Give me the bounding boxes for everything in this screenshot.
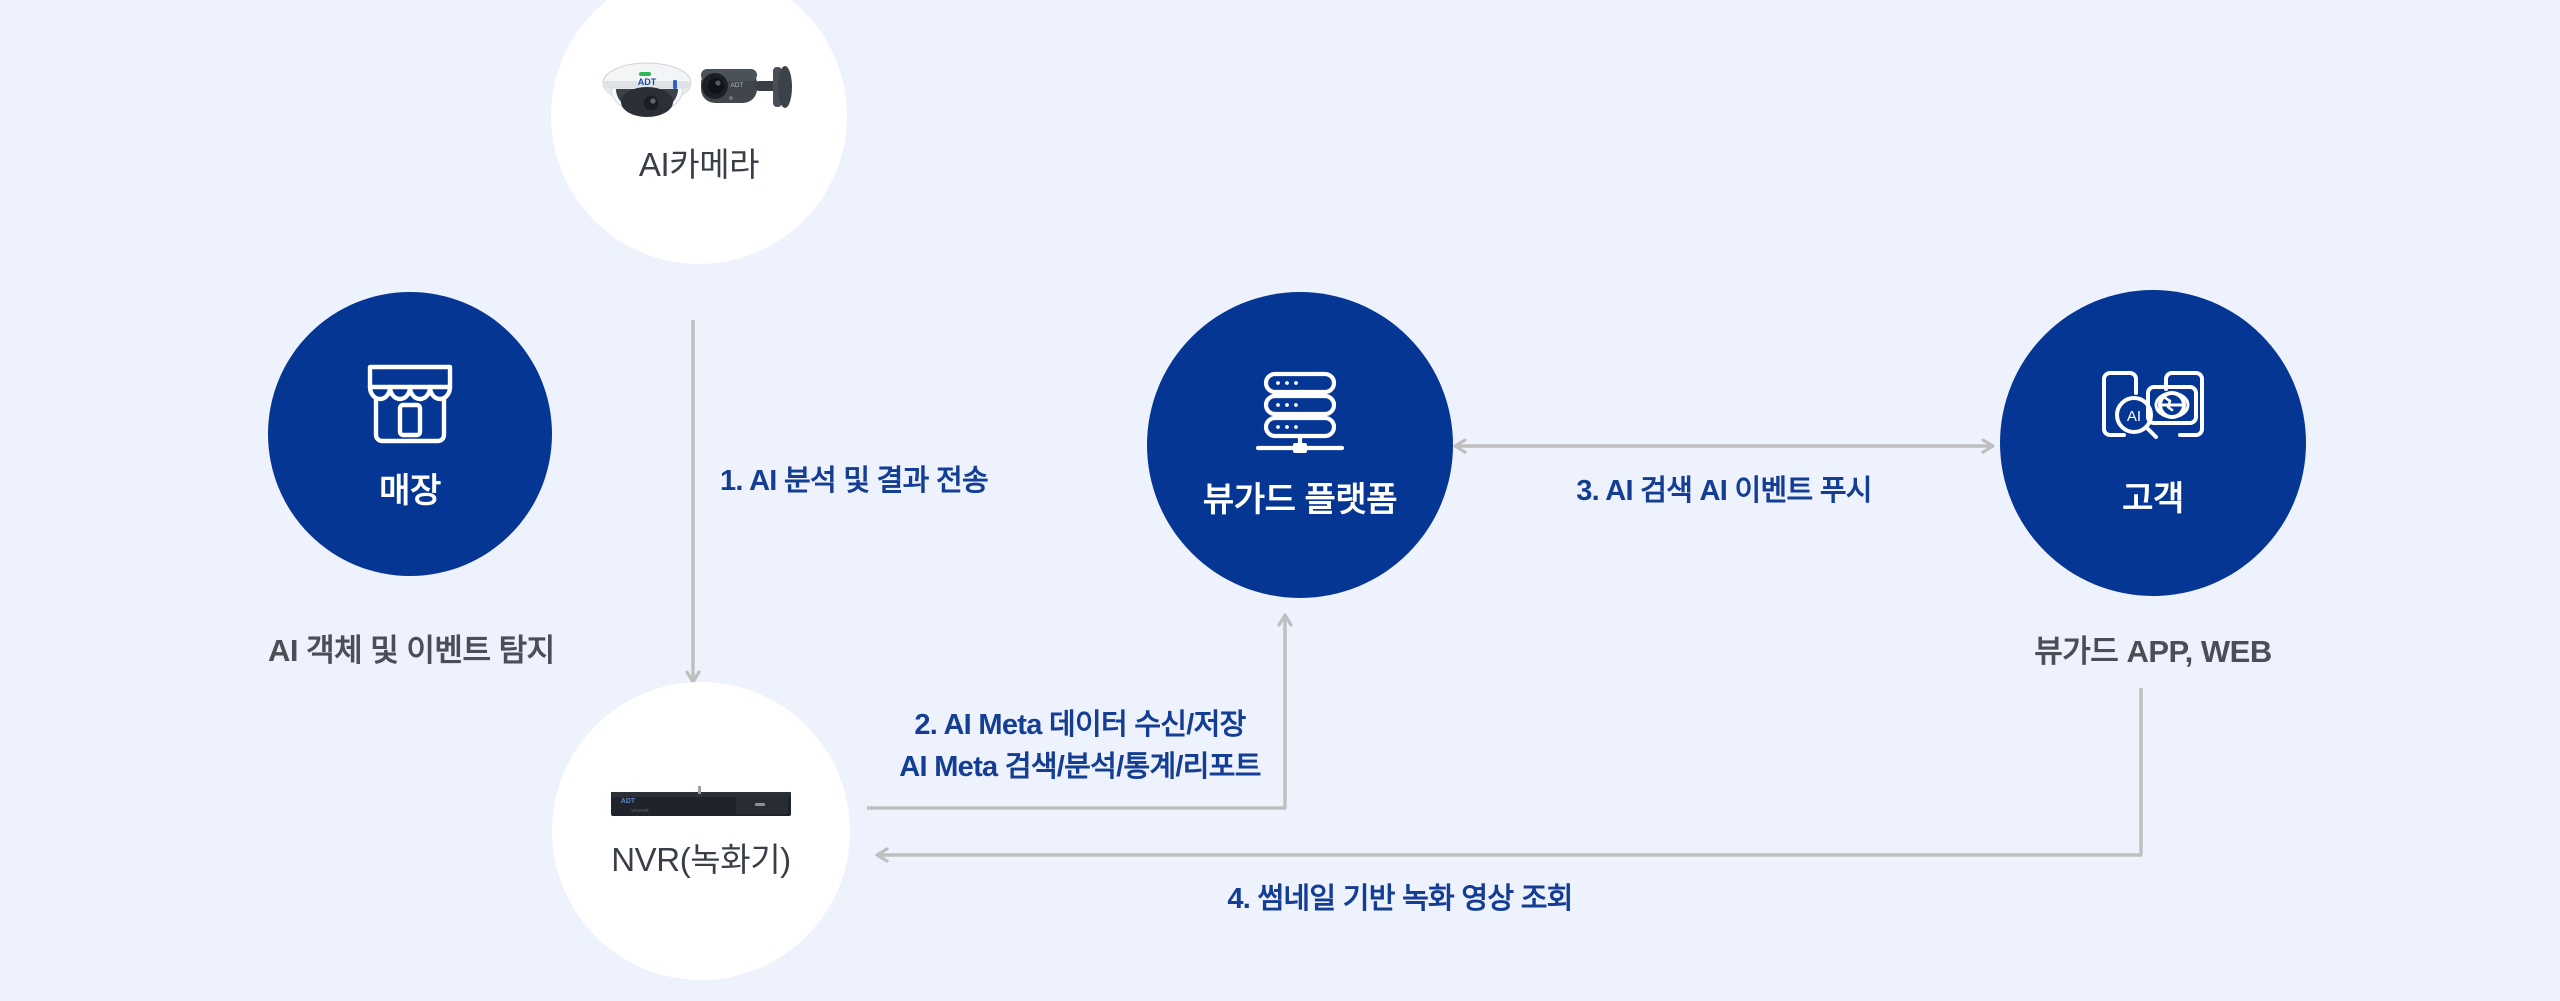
svg-text:AI: AI xyxy=(2127,408,2141,425)
diagram-canvas: ADT ADT AI카메라 xyxy=(0,0,2560,1001)
node-store-label: 매장 xyxy=(379,473,441,510)
node-customer[interactable]: AI 고객 xyxy=(2000,290,2306,596)
svg-text:VG-NVR: VG-NVR xyxy=(631,808,649,813)
node-nvr[interactable]: ADT VG-NVR NVR(녹화기) xyxy=(552,682,850,980)
node-ai-camera[interactable]: ADT ADT AI카메라 xyxy=(551,0,847,264)
nvr-photo: ADT VG-NVR xyxy=(610,784,792,820)
customer-caption: 뷰가드 APP, WEB xyxy=(2000,626,2306,671)
edge-3-label-line-1: 3. AI 검색 AI 이벤트 푸시 xyxy=(1514,470,1934,512)
node-ai-camera-label: AI카메라 xyxy=(639,147,759,183)
store-caption: AI 객체 및 이벤트 탐지 xyxy=(268,625,552,670)
edge-1-label-line-1: 1. AI 분석 및 결과 전송 xyxy=(720,460,1040,502)
camera-photo: ADT ADT xyxy=(599,49,799,127)
node-platform-label: 뷰가드 플랫폼 xyxy=(1203,482,1397,519)
svg-text:ADT: ADT xyxy=(638,77,657,87)
node-nvr-label: NVR(녹화기) xyxy=(611,842,791,878)
edge-2-label-line-1: 2. AI Meta 데이터 수신/저장 xyxy=(880,704,1280,746)
node-store[interactable]: 매장 xyxy=(268,292,552,576)
svg-text:ADT: ADT xyxy=(621,798,636,805)
edge-1-label: 1. AI 분석 및 결과 전송 xyxy=(720,460,1040,502)
edge-3-label: 3. AI 검색 AI 이벤트 푸시 xyxy=(1514,470,1934,512)
server-rack-icon xyxy=(1250,370,1350,460)
edge-2-label-line-2: AI Meta 검색/분석/통계/리포트 xyxy=(880,746,1280,788)
node-platform[interactable]: 뷰가드 플랫폼 xyxy=(1147,292,1453,598)
edge-4-label: 4. 썸네일 기반 녹화 영상 조회 xyxy=(1120,878,1680,920)
edge-4-label-line-1: 4. 썸네일 기반 녹화 영상 조회 xyxy=(1120,878,1680,920)
svg-text:ADT: ADT xyxy=(731,82,744,89)
storefront-icon xyxy=(360,357,460,451)
node-customer-label: 고객 xyxy=(2122,481,2184,518)
edge-2-label: 2. AI Meta 데이터 수신/저장 AI Meta 검색/분석/통계/리포… xyxy=(880,704,1280,788)
ai-search-web-icon: AI xyxy=(2094,367,2212,459)
